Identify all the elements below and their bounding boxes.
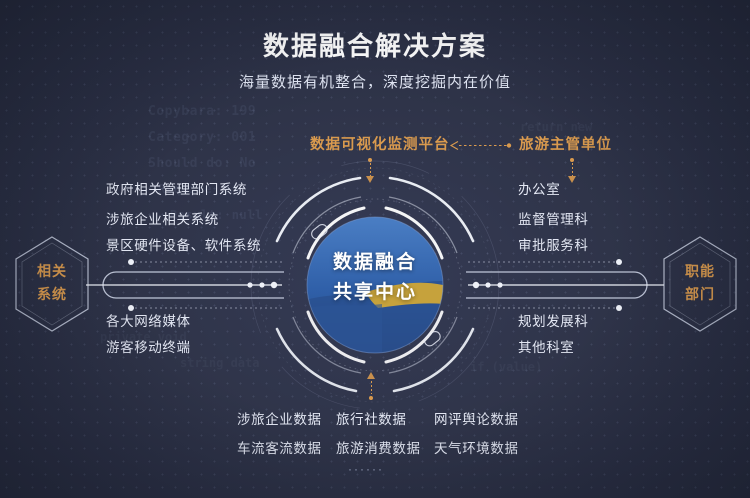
left-item-3: 各大网络媒体 xyxy=(106,310,191,330)
left-item-2: 景区硬件设备、软件系统 xyxy=(106,234,261,254)
bottom-data-0-1: 旅行社数据 xyxy=(336,408,407,428)
right-item-0: 办公室 xyxy=(518,178,560,198)
up-marker-icon xyxy=(366,372,376,400)
core-label-line1: 数据融合 xyxy=(248,248,502,278)
page-subtitle: 海量数据有机整合，深度挖掘内在价值 xyxy=(0,71,750,92)
hexagon-right-label-line1: 职能 xyxy=(660,260,740,283)
arrow-left-dotted-icon xyxy=(450,141,512,150)
right-item-4: 其他科室 xyxy=(518,336,574,356)
hexagon-related-systems[interactable]: 相关 系统 xyxy=(12,234,92,334)
page-title: 数据融合解决方案 xyxy=(0,26,750,63)
label-visualization-platform: 数据可视化监测平台 xyxy=(310,133,450,154)
label-tourism-authority: 旅游主管单位 xyxy=(519,133,612,154)
hexagon-right-label-line2: 部门 xyxy=(660,283,740,306)
bottom-data-0-0: 涉旅企业数据 xyxy=(237,408,322,428)
bottom-data-ellipsis: ······ xyxy=(348,462,384,476)
hexagon-left-label-line1: 相关 xyxy=(12,260,92,283)
bottom-data-0-2: 网评舆论数据 xyxy=(434,408,519,428)
infographic-canvas: Copybara: 199 Category: 001 Should do: N… xyxy=(0,0,750,498)
left-item-0: 政府相关管理部门系统 xyxy=(106,178,247,198)
bottom-data-1-2: 天气环境数据 xyxy=(434,437,519,457)
right-item-3: 规划发展科 xyxy=(518,310,589,330)
dropper-marker-authority-icon xyxy=(567,158,577,188)
right-item-1: 监督管理科 xyxy=(518,208,589,228)
background-code-text: Category: 001 xyxy=(148,130,256,145)
bottom-data-1-0: 车流客流数据 xyxy=(237,437,322,457)
left-item-1: 涉旅企业相关系统 xyxy=(106,208,219,228)
bottom-data-1-1: 旅游消费数据 xyxy=(336,437,421,457)
background-code-text: Should do: No xyxy=(148,156,256,171)
hexagon-functional-departments[interactable]: 职能 部门 xyxy=(660,234,740,334)
background-code-text: Copybara: 199 xyxy=(148,104,256,119)
core-label-line2: 共享中心 xyxy=(248,278,502,308)
background-code-text: return new xyxy=(520,120,592,134)
left-item-4: 游客移动终端 xyxy=(106,336,191,356)
right-item-2: 审批服务科 xyxy=(518,234,589,254)
hexagon-left-label-line2: 系统 xyxy=(12,283,92,306)
